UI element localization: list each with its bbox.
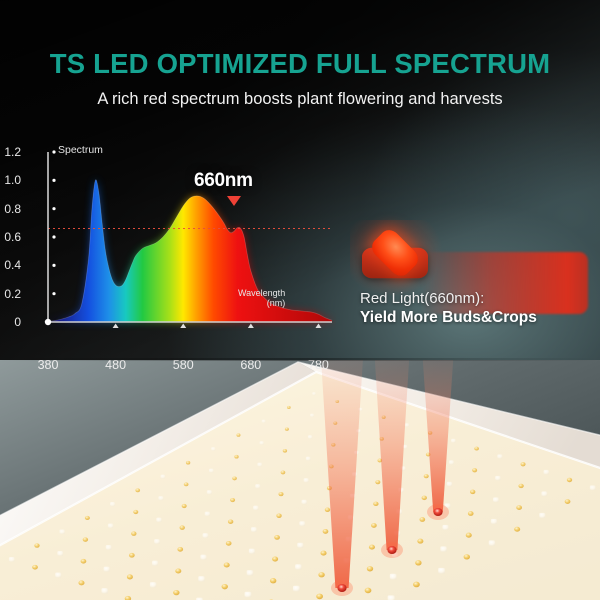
- led-white: [200, 555, 206, 560]
- led-white: [161, 475, 166, 479]
- led-white: [57, 551, 63, 556]
- led-white: [405, 423, 409, 427]
- led-amber: [127, 574, 133, 579]
- led-amber: [133, 510, 138, 514]
- led-red: [433, 508, 442, 516]
- led-amber: [365, 588, 372, 594]
- led-amber: [371, 523, 377, 528]
- x-tick-triangle: [180, 324, 186, 329]
- led-amber: [184, 482, 189, 486]
- led-amber: [175, 568, 181, 573]
- led-amber: [419, 517, 425, 522]
- led-white: [150, 582, 156, 587]
- led-white: [205, 512, 210, 517]
- y-axis-title: Spectrum: [58, 144, 103, 156]
- led-amber: [226, 541, 232, 546]
- y-tick-marks: [52, 150, 55, 295]
- led-amber: [287, 406, 291, 409]
- led-white: [260, 441, 264, 445]
- led-amber: [516, 505, 522, 510]
- promo-banner: TS LED OPTIMIZED FULL SPECTRUM A rich re…: [0, 0, 600, 600]
- led-diode-icon: [358, 230, 434, 286]
- led-amber: [283, 449, 287, 453]
- led-amber: [236, 433, 240, 436]
- led-amber: [474, 447, 479, 451]
- red-light-callout: Red Light(660nm): Yield More Buds&Crops: [352, 228, 592, 338]
- led-white: [249, 549, 255, 554]
- led-white: [306, 457, 311, 461]
- led-white: [541, 491, 547, 496]
- led-white: [438, 568, 445, 574]
- led-amber: [270, 578, 276, 583]
- led-amber: [373, 502, 378, 506]
- led-amber: [274, 535, 280, 540]
- led-amber: [316, 594, 323, 600]
- led-amber: [135, 488, 140, 492]
- led-white: [209, 469, 214, 473]
- led-white: [247, 570, 253, 575]
- led-amber: [521, 462, 526, 466]
- led-white: [447, 482, 452, 487]
- led-amber: [514, 527, 520, 532]
- led-white: [59, 530, 64, 535]
- led-white: [156, 518, 161, 523]
- led-white: [293, 586, 300, 592]
- led-amber: [222, 584, 228, 589]
- y-tick-dot: [52, 264, 55, 267]
- y-tick-dot: [52, 179, 55, 182]
- led-amber: [468, 511, 474, 516]
- led-amber: [417, 539, 423, 544]
- led-white: [154, 539, 160, 544]
- led-amber: [285, 427, 289, 430]
- led-white: [440, 546, 446, 551]
- led-white: [203, 533, 209, 538]
- axis-origin-dot: [45, 319, 51, 325]
- led-amber: [369, 545, 375, 550]
- led-white: [310, 414, 314, 417]
- y-axis-tick-label: 0.8: [0, 202, 21, 216]
- led-white: [158, 496, 163, 500]
- led-amber: [318, 572, 324, 577]
- led-red: [387, 546, 396, 554]
- spectrum-chart: 00.20.40.60.81.01.2 380480580680780 Spec…: [26, 146, 336, 351]
- led-amber: [180, 525, 185, 529]
- led-amber: [276, 514, 281, 518]
- led-white: [388, 595, 395, 600]
- led-white: [590, 485, 596, 490]
- led-amber: [323, 529, 329, 534]
- callout-line-2: Yield More Buds&Crops: [360, 309, 537, 327]
- led-amber: [424, 474, 429, 478]
- led-white: [55, 573, 61, 578]
- led-white: [255, 484, 260, 488]
- led-white: [211, 447, 215, 451]
- led-white: [497, 454, 502, 458]
- led-white: [449, 460, 454, 464]
- led-white: [9, 557, 15, 562]
- x-tick-marks: [113, 324, 322, 329]
- led-amber: [375, 480, 380, 484]
- led-amber: [464, 554, 470, 559]
- annotation-660nm-label: 660nm: [194, 170, 253, 192]
- y-tick-dot: [52, 292, 55, 295]
- led-white: [451, 439, 456, 443]
- led-white: [104, 567, 110, 572]
- led-white: [257, 463, 262, 467]
- product-photo: [0, 360, 600, 600]
- led-white: [110, 502, 115, 506]
- led-amber: [182, 504, 187, 508]
- led-amber: [173, 590, 179, 595]
- led-amber: [565, 499, 571, 504]
- led-white: [106, 545, 112, 550]
- y-tick-dot: [52, 235, 55, 238]
- led-white: [251, 527, 257, 532]
- led-white: [101, 588, 107, 593]
- led-amber: [232, 476, 237, 480]
- led-white: [544, 470, 549, 475]
- spectrum-curve: [48, 180, 332, 322]
- page-subtitle: A rich red spectrum boosts plant floweri…: [0, 90, 600, 109]
- led-white: [539, 513, 545, 518]
- x-axis-title-text: Wavelength: [238, 288, 285, 298]
- led-white: [302, 500, 307, 505]
- led-amber: [224, 562, 230, 567]
- led-white: [297, 543, 303, 548]
- spectrum-chart-svg: [26, 146, 336, 351]
- y-axis-tick-label: 1.0: [0, 173, 21, 187]
- x-axis-title: Wavelength (nm): [238, 288, 285, 308]
- led-amber: [131, 531, 136, 535]
- led-amber: [230, 498, 235, 502]
- led-white: [495, 476, 500, 481]
- led-amber: [472, 468, 477, 472]
- y-axis-tick-label: 0: [0, 315, 21, 329]
- led-white: [152, 561, 158, 566]
- led-amber: [272, 557, 278, 562]
- led-white: [207, 490, 212, 494]
- led-amber: [186, 461, 190, 465]
- led-white: [108, 524, 113, 529]
- led-white: [489, 540, 495, 545]
- led-amber: [34, 543, 39, 547]
- led-amber: [413, 582, 420, 588]
- led-amber: [85, 516, 90, 520]
- led-white: [312, 392, 316, 395]
- led-white: [198, 576, 204, 581]
- led-amber: [228, 519, 233, 523]
- led-amber: [177, 547, 183, 552]
- led-white: [390, 574, 397, 580]
- y-axis-tick-label: 0.6: [0, 230, 21, 244]
- y-tick-dot: [52, 207, 55, 210]
- y-axis-tick-label: 1.2: [0, 145, 21, 159]
- x-axis-title-unit: (nm): [238, 298, 285, 308]
- led-amber: [518, 484, 523, 488]
- led-amber: [78, 580, 84, 585]
- led-amber: [466, 533, 472, 538]
- led-amber: [83, 537, 88, 541]
- led-amber: [567, 478, 572, 482]
- led-red: [337, 584, 346, 592]
- x-tick-triangle: [315, 324, 321, 329]
- led-amber: [32, 565, 38, 570]
- led-amber: [422, 496, 427, 500]
- led-amber: [129, 553, 135, 558]
- section-divider: [0, 358, 600, 361]
- x-tick-triangle: [248, 324, 254, 329]
- led-amber: [325, 508, 330, 512]
- led-white: [262, 420, 266, 423]
- led-amber: [234, 455, 238, 459]
- led-white: [299, 521, 305, 526]
- y-axis-tick-label: 0.4: [0, 258, 21, 272]
- x-tick-triangle: [113, 324, 119, 329]
- led-amber: [321, 551, 327, 556]
- led-white: [308, 435, 312, 439]
- led-amber: [415, 560, 421, 565]
- led-white: [295, 564, 301, 569]
- y-tick-dot: [52, 150, 55, 153]
- annotation-660nm-marker: [227, 196, 241, 206]
- led-amber: [81, 559, 87, 564]
- led-amber: [367, 566, 373, 571]
- led-amber: [281, 470, 286, 474]
- led-amber: [470, 490, 475, 494]
- led-white: [493, 497, 499, 502]
- led-amber: [278, 492, 283, 496]
- y-axis-tick-label: 0.2: [0, 287, 21, 301]
- led-white: [491, 519, 497, 524]
- led-white: [245, 592, 252, 598]
- callout-line-1: Red Light(660nm):: [360, 290, 484, 307]
- led-white: [253, 506, 258, 511]
- led-white: [304, 478, 309, 482]
- led-white: [442, 525, 448, 530]
- product-photo-svg: [0, 360, 600, 600]
- page-title: TS LED OPTIMIZED FULL SPECTRUM: [0, 48, 600, 80]
